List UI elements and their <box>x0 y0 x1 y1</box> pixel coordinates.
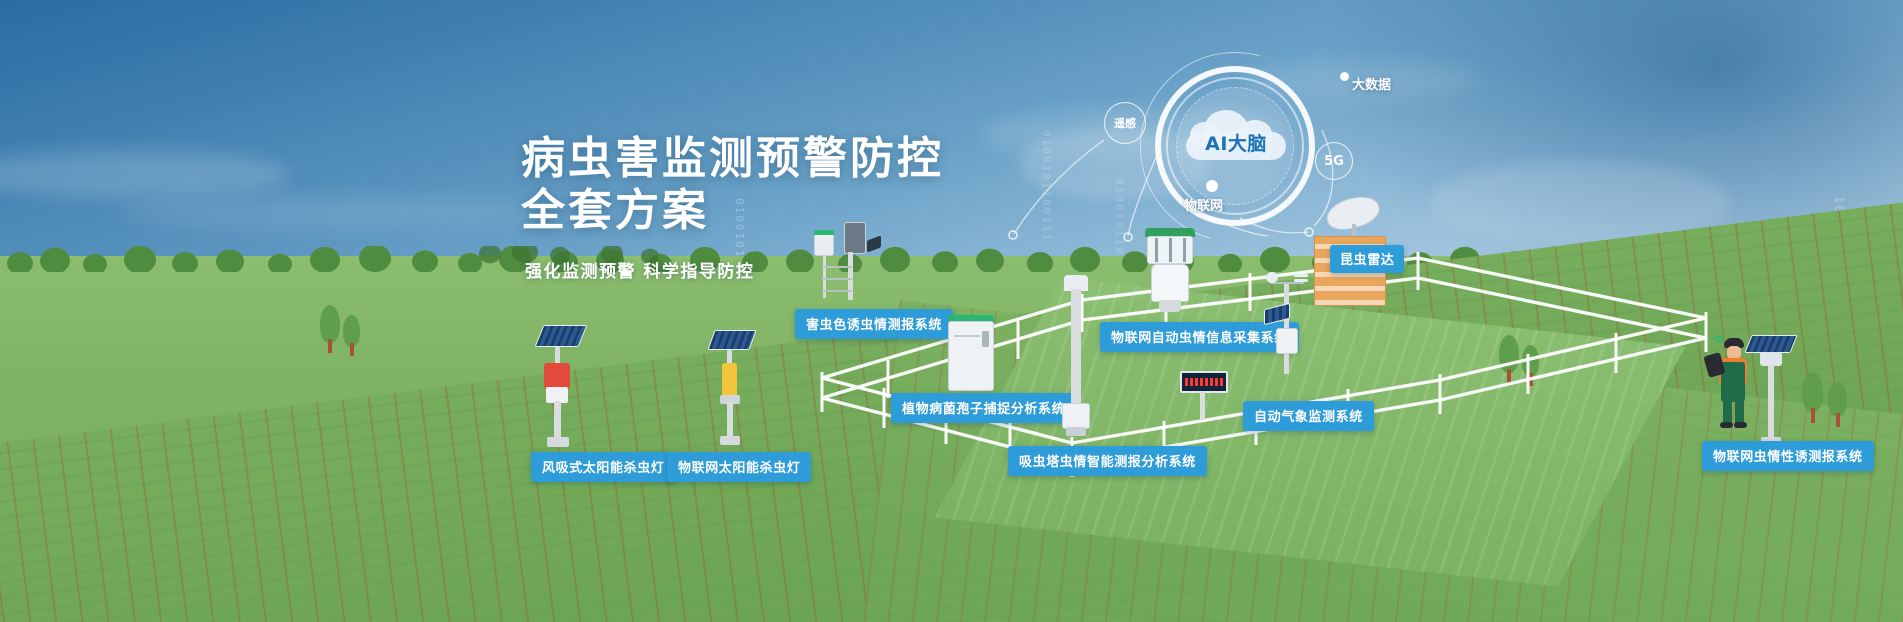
banner-root: 010010110011101 0100101100111 0100101100… <box>0 0 1903 622</box>
device-pest-collector[interactable] <box>1141 228 1199 318</box>
tree-icon <box>1520 345 1542 389</box>
ai-node-5g[interactable]: 5G <box>1315 142 1353 180</box>
led-board-pole <box>1200 392 1205 420</box>
page-title-line-1: 病虫害监测预警防控 <box>521 133 944 185</box>
tree-icon <box>341 315 363 359</box>
worker-leg-left <box>1723 398 1732 424</box>
ai-node-dashuju-label: 大数据 <box>1352 74 1391 93</box>
ai-node-yaogan-label: 遥感 <box>1114 115 1136 131</box>
device-label-insect-radar[interactable]: 昆虫雷达 <box>1330 245 1404 273</box>
device-label-iot-solar-lamp[interactable]: 物联网太阳能杀虫灯 <box>667 452 811 482</box>
worker-overalls <box>1721 362 1745 402</box>
device-label-spore-cabinet[interactable]: 植物病菌孢子捕捉分析系统 <box>891 393 1076 423</box>
ai-node-dashuju-dot <box>1340 72 1349 81</box>
wifi-icon <box>1715 340 1723 348</box>
led-display-board <box>1180 371 1228 393</box>
tablet-icon <box>1703 352 1725 378</box>
device-iot-solar-lamp[interactable] <box>707 330 759 448</box>
device-color-lure-station[interactable] <box>812 222 882 304</box>
device-suction-tower[interactable] <box>1058 275 1094 440</box>
device-label-suction-tower[interactable]: 吸虫塔虫情智能测报分析系统 <box>1008 446 1207 476</box>
ai-node-yaogan[interactable]: 遥感 <box>1104 102 1146 144</box>
tree-icon <box>318 305 342 355</box>
cloud-icon: AI大脑 <box>1186 106 1286 160</box>
tree-icon <box>1826 382 1850 430</box>
device-wind-suction-solar-lamp[interactable] <box>533 325 587 450</box>
cloud-decoration <box>120 196 540 230</box>
ai-hub: AI大脑 遥感 5G 大数据 物联网 <box>1052 30 1472 250</box>
worker-shoe-left <box>1720 422 1733 428</box>
device-label-sex-lure-trap[interactable]: 物联网虫情性诱测报系统 <box>1702 441 1874 471</box>
ai-node-wulianwang-label: 物联网 <box>1184 195 1223 214</box>
ai-node-wulianwang-dot <box>1206 180 1218 192</box>
ai-node-5g-label: 5G <box>1324 154 1344 169</box>
device-spore-cabinet[interactable] <box>948 315 994 397</box>
device-label-wind-suction-solar-lamp[interactable]: 风吸式太阳能杀虫灯 <box>531 452 675 482</box>
device-label-weather-station[interactable]: 自动气象监测系统 <box>1243 401 1374 431</box>
ai-center-label: AI大脑 <box>1186 129 1286 156</box>
worker-leg-right <box>1735 398 1744 424</box>
tree-icon <box>1800 372 1826 426</box>
device-weather-station[interactable] <box>1262 268 1314 378</box>
tree-icon <box>1497 335 1521 385</box>
field-worker <box>1706 338 1762 430</box>
worker-shoe-right <box>1734 422 1747 428</box>
device-label-color-lure-station[interactable]: 害虫色诱虫情测报系统 <box>795 309 953 339</box>
